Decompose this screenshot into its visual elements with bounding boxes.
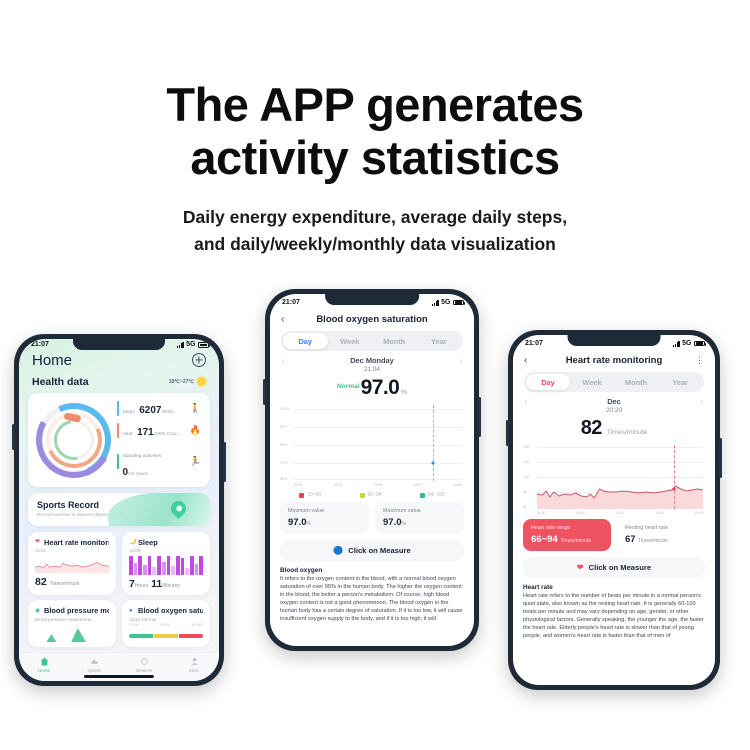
measure-button-label: Click on Measure bbox=[589, 563, 651, 572]
segment-month[interactable]: Month bbox=[614, 374, 658, 390]
segment-day[interactable]: Day bbox=[526, 374, 570, 390]
stat-card-maximum: Maximum value 97.0% bbox=[375, 502, 464, 534]
person-icon bbox=[169, 657, 219, 667]
segment-week[interactable]: Week bbox=[328, 333, 373, 349]
reading-time: 21:04 bbox=[270, 366, 474, 375]
status-badge: Normal bbox=[337, 383, 360, 390]
kebab-menu-icon[interactable]: ⋮ bbox=[692, 357, 704, 363]
tab-mine[interactable]: Mine bbox=[169, 657, 219, 674]
metric-label: Steps bbox=[123, 409, 135, 414]
stat-value: 97.0% bbox=[383, 517, 456, 528]
network-label: 5G bbox=[441, 299, 450, 306]
card-blood-oxygen[interactable]: ● Blood oxygen saturation 12/11 Normal 7… bbox=[122, 600, 210, 647]
network-label: 5G bbox=[682, 340, 691, 347]
x-tick: 06:00 bbox=[334, 483, 343, 487]
y-tick: 97% bbox=[280, 461, 287, 465]
battery-icon bbox=[453, 300, 464, 306]
segment-day[interactable]: Day bbox=[283, 333, 328, 349]
heart-rate-sparkline bbox=[35, 556, 109, 573]
current-date: Dec Monday bbox=[350, 356, 394, 365]
spo2-chart[interactable]: 100% 99% 98% 97% 96% 00:00 06:00 12:00 1… bbox=[270, 403, 474, 487]
blood-oxygen-icon: ● bbox=[129, 608, 135, 614]
stat-card-resting-heart-rate: Resting heart rate 67 Times/minute bbox=[617, 519, 705, 551]
tab-label: Sports bbox=[69, 668, 119, 673]
metric-row-steps[interactable]: Steps 6207/6000... 🚶 bbox=[117, 400, 201, 418]
home-title: Home bbox=[32, 352, 72, 369]
phone-left: 21:07 5G Home Health data 18℃~27℃ bbox=[14, 334, 224, 686]
reading-time: 20:20 bbox=[513, 407, 715, 416]
phones-stage: 21:07 5G Home Health data 18℃~27℃ bbox=[0, 0, 750, 750]
heart-rate-stat-cards: Heart rate range 66~94 Times/minute Rest… bbox=[513, 519, 715, 551]
x-axis-ticks: 00:00 06:00 12:00 18:00 24:00 bbox=[523, 509, 705, 515]
heart-rate-reading: 82Times/minute bbox=[513, 416, 715, 443]
legend-item-high: 94~100 bbox=[420, 492, 445, 498]
blood-pressure-icon: ◉ bbox=[35, 608, 41, 614]
home-icon bbox=[19, 657, 69, 667]
sports-record-card[interactable]: Sports Record Record exercise to improve… bbox=[28, 493, 210, 526]
metric-value: 6207/6000... bbox=[139, 405, 177, 416]
card-heart-rate[interactable]: ❤ Heart rate monitoring 12/11 82 Times/m… bbox=[28, 532, 116, 596]
blood-pressure-chart bbox=[35, 626, 109, 642]
next-date-icon[interactable]: › bbox=[459, 356, 462, 365]
network-label: 5G bbox=[186, 341, 195, 348]
heart-icon: ❤ bbox=[35, 539, 41, 545]
prev-date-icon[interactable]: ‹ bbox=[525, 397, 528, 406]
health-cards-row-2: ◉ Blood pressure monitoring Blood pressu… bbox=[28, 600, 210, 647]
heart-rate-area-path bbox=[537, 445, 703, 509]
x-tick: 00:00 bbox=[294, 483, 303, 487]
x-tick: 24:00 bbox=[454, 483, 463, 487]
walk-icon: 🚶 bbox=[190, 404, 201, 413]
tab-devices[interactable]: Devices bbox=[119, 657, 169, 674]
info-title: Heart rate bbox=[523, 584, 705, 591]
y-tick: 98% bbox=[280, 443, 287, 447]
tab-label: Home bbox=[19, 668, 69, 673]
run-icon: 🏃 bbox=[190, 457, 201, 466]
y-tick: 100% bbox=[280, 407, 289, 411]
card-blood-pressure[interactable]: ◉ Blood pressure monitoring Blood pressu… bbox=[28, 600, 116, 647]
stat-card-minimum: Minimum value 97.0% bbox=[280, 502, 369, 534]
metric-bar bbox=[117, 454, 119, 469]
card-date: 12/09 bbox=[129, 548, 203, 553]
tab-sports[interactable]: Sports bbox=[69, 657, 119, 674]
card-title: Heart rate monitoring bbox=[44, 538, 109, 547]
x-tick: 18:00 bbox=[414, 483, 423, 487]
x-tick: 12:00 bbox=[616, 511, 625, 515]
spo2-unit: % bbox=[401, 389, 407, 396]
y-tick: 96% bbox=[280, 477, 287, 481]
spo2-value: 97.0 bbox=[361, 376, 399, 399]
chevron-left-icon[interactable]: ‹ bbox=[281, 314, 293, 325]
status-time: 21:07 bbox=[31, 341, 49, 348]
tab-home[interactable]: Home bbox=[19, 657, 69, 674]
next-date-icon[interactable]: › bbox=[700, 397, 703, 406]
spo2-stat-cards: Minimum value 97.0% Maximum value 97.0% bbox=[270, 502, 474, 534]
stat-value: 97.0% bbox=[288, 517, 361, 528]
stat-card-heart-rate-range: Heart rate range 66~94 Times/minute bbox=[523, 519, 611, 551]
app-bar: ‹ Heart rate monitoring ⋮ bbox=[513, 350, 715, 370]
card-sleep[interactable]: 🌙 Sleep 12/09 7Hours 11Minutes bbox=[122, 532, 210, 596]
stat-label: Heart rate range bbox=[531, 525, 603, 532]
y-tick: 80 bbox=[523, 490, 527, 494]
battery-icon bbox=[198, 342, 209, 348]
tab-label: Devices bbox=[119, 668, 169, 673]
watch-icon bbox=[119, 657, 169, 667]
stat-label: Maximum value bbox=[383, 508, 456, 515]
info-text: Heart rate refers to the number of beats… bbox=[523, 593, 705, 641]
phone-center: 21:07 5G ‹ Blood oxygen saturation Day W… bbox=[265, 289, 479, 651]
metric-value: 171/2000 KCal... bbox=[137, 427, 180, 438]
heart-rate-chart[interactable]: 200 160 120 80 40 00:00 06:00 12:00 bbox=[513, 443, 715, 515]
metric-label: Heat bbox=[123, 431, 133, 436]
x-tick: 18:00 bbox=[655, 511, 664, 515]
status-time: 21:07 bbox=[525, 340, 543, 347]
flame-icon: 🔥 bbox=[190, 426, 201, 435]
weather-temp: 18℃~27℃ bbox=[169, 379, 194, 385]
droplet-icon: 🔵 bbox=[333, 547, 343, 555]
chevron-left-icon[interactable]: ‹ bbox=[524, 355, 536, 366]
metric-label: Standing activities bbox=[123, 453, 162, 458]
y-tick: 120 bbox=[523, 475, 529, 479]
period-segmented-control: Day Week Month Year bbox=[524, 372, 704, 392]
screen-title: Blood oxygen saturation bbox=[293, 314, 451, 325]
phone-left-screen: 21:07 5G Home Health data 18℃~27℃ bbox=[19, 339, 219, 681]
blood-oxygen-scale-bar bbox=[129, 634, 203, 638]
notch bbox=[325, 294, 419, 305]
heart-icon: ❤ bbox=[577, 564, 584, 572]
x-tick: 06:00 bbox=[576, 511, 585, 515]
home-indicator bbox=[84, 675, 154, 678]
notch bbox=[73, 339, 165, 350]
metric-row-heat[interactable]: Heat 171/2000 KCal... 🔥 bbox=[117, 422, 201, 440]
card-value: 82 Times/minute bbox=[35, 576, 109, 588]
info-section: Heart rate Heart rate refers to the numb… bbox=[523, 584, 705, 641]
x-axis-ticks: 00:00 06:00 12:00 18:00 24:00 bbox=[280, 481, 464, 487]
y-tick: 200 bbox=[523, 445, 529, 449]
sun-icon bbox=[197, 377, 206, 386]
segment-year[interactable]: Year bbox=[417, 333, 462, 349]
prev-date-icon[interactable]: ‹ bbox=[282, 356, 285, 365]
signal-icon bbox=[432, 300, 439, 306]
signal-icon bbox=[673, 341, 680, 347]
signal-icon bbox=[177, 342, 184, 348]
stat-value: 67 Times/minute bbox=[625, 534, 697, 545]
health-metrics-card[interactable]: Steps 6207/6000... 🚶 Heat 171/2000 KCal.… bbox=[28, 393, 210, 487]
moon-icon: 🌙 bbox=[129, 539, 135, 545]
y-tick: 99% bbox=[280, 425, 287, 429]
activity-rings-chart bbox=[37, 403, 111, 477]
card-subtitle: Blood pressure measureme... bbox=[35, 617, 109, 622]
info-text: It refers to the oxygen content in the b… bbox=[280, 576, 464, 624]
x-tick: 12:00 bbox=[374, 483, 383, 487]
y-tick: 40 bbox=[523, 505, 527, 509]
screen-title: Heart rate monitoring bbox=[536, 355, 692, 366]
segment-year[interactable]: Year bbox=[658, 374, 702, 390]
health-data-header: Health data 18℃~27℃ bbox=[19, 369, 219, 393]
phone-center-screen: 21:07 5G ‹ Blood oxygen saturation Day W… bbox=[270, 294, 474, 646]
battery-icon bbox=[694, 341, 705, 347]
card-title: Blood pressure monitoring bbox=[44, 606, 109, 615]
metric-value: 0/10 Hours bbox=[123, 467, 148, 478]
card-title: Sleep bbox=[138, 538, 158, 547]
sleep-bar-chart bbox=[129, 556, 203, 575]
health-data-title: Health data bbox=[32, 376, 89, 388]
stat-label: Minimum value bbox=[288, 508, 361, 515]
blood-oxygen-scale-ticks: 70~90 90~94 94~100 bbox=[129, 623, 203, 627]
x-tick: 00:00 bbox=[537, 511, 546, 515]
card-date: 12/11 Normal bbox=[129, 617, 203, 622]
current-date: Dec bbox=[607, 397, 621, 406]
data-point bbox=[673, 488, 676, 491]
card-date: 12/11 bbox=[35, 548, 109, 553]
chart-legend: 70~90 90~94 94~100 bbox=[270, 487, 474, 502]
card-value: 7Hours 11Minutes bbox=[129, 578, 203, 590]
home-topbar: Home bbox=[19, 349, 219, 369]
shoe-icon bbox=[69, 657, 119, 667]
measure-button-label: Click on Measure bbox=[348, 546, 410, 555]
date-navigator: ‹ Dec › bbox=[513, 392, 715, 407]
phone-right: 21:07 5G ‹ Heart rate monitoring ⋮ Day W… bbox=[508, 330, 720, 690]
legend-item-low: 70~90 bbox=[299, 492, 321, 498]
measure-button[interactable]: 🔵 Click on Measure bbox=[280, 540, 464, 561]
weather-info: 18℃~27℃ bbox=[169, 377, 206, 386]
heart-rate-value: 82 bbox=[581, 417, 602, 439]
notch bbox=[568, 335, 661, 346]
heart-rate-unit: Times/minute bbox=[607, 429, 648, 436]
stat-label: Resting heart rate bbox=[625, 525, 697, 532]
data-point bbox=[431, 462, 434, 465]
metric-bar bbox=[117, 423, 119, 438]
status-time: 21:07 bbox=[282, 299, 300, 306]
map-illustration bbox=[106, 493, 210, 526]
metric-row-standing[interactable]: Standing activities 0/10 Hours 🏃 bbox=[117, 444, 201, 480]
spo2-reading: Normal97.0% bbox=[270, 375, 474, 403]
plus-circle-icon[interactable] bbox=[192, 353, 206, 367]
measure-button[interactable]: ❤ Click on Measure bbox=[523, 557, 705, 578]
y-tick: 160 bbox=[523, 460, 529, 464]
card-title: Blood oxygen saturation bbox=[138, 606, 203, 615]
stat-value: 66~94 Times/minute bbox=[531, 534, 603, 545]
app-bar: ‹ Blood oxygen saturation bbox=[270, 309, 474, 329]
health-cards-row-1: ❤ Heart rate monitoring 12/11 82 Times/m… bbox=[28, 532, 210, 596]
legend-item-mid: 90~94 bbox=[360, 492, 382, 498]
date-navigator: ‹ Dec Monday › bbox=[270, 351, 474, 366]
metric-bar bbox=[117, 401, 119, 416]
period-segmented-control: Day Week Month Year bbox=[281, 331, 463, 351]
info-section: Blood oxygen It refers to the oxygen con… bbox=[280, 567, 464, 624]
segment-week[interactable]: Week bbox=[570, 374, 614, 390]
info-title: Blood oxygen bbox=[280, 567, 464, 574]
segment-month[interactable]: Month bbox=[372, 333, 417, 349]
x-tick: 24:00 bbox=[695, 511, 704, 515]
phone-right-screen: 21:07 5G ‹ Heart rate monitoring ⋮ Day W… bbox=[513, 335, 715, 685]
tab-label: Mine bbox=[169, 668, 219, 673]
